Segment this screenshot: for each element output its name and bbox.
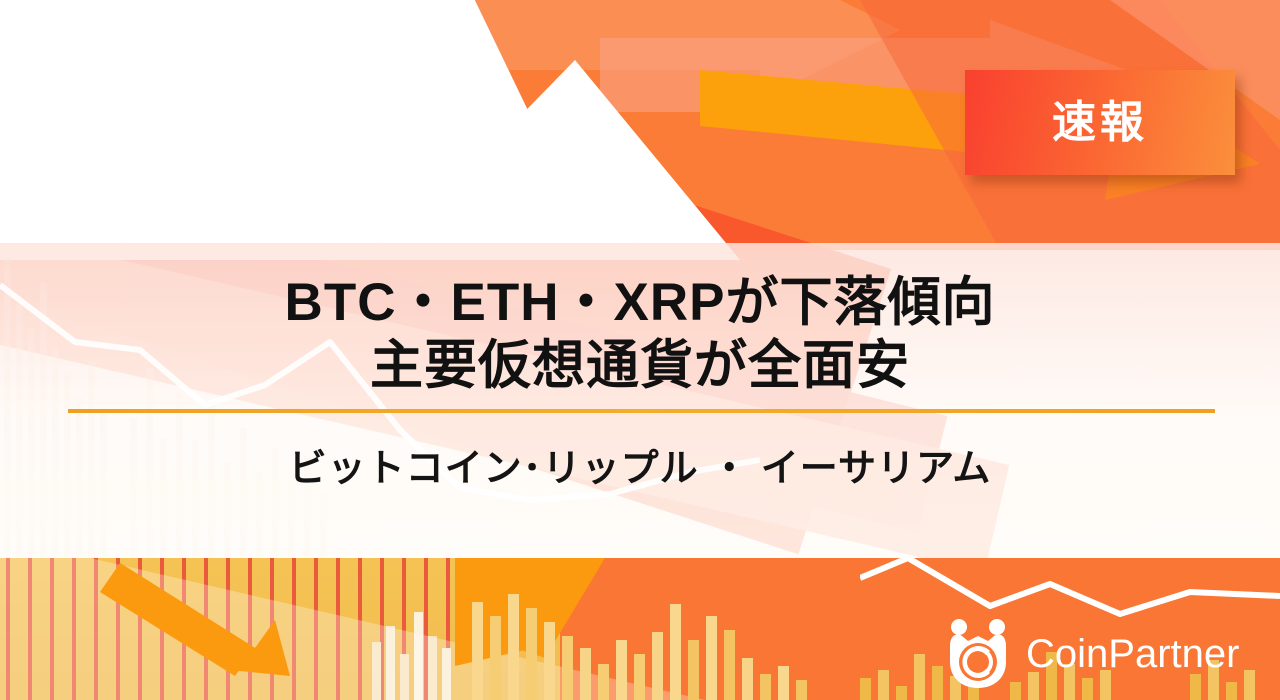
subtitle: ビットコイン･リップル ・ イーサリアム: [0, 437, 1280, 492]
headline-divider: [68, 409, 1215, 413]
headline-line-1: BTC・ETH・XRPが下落傾向: [0, 272, 1280, 335]
headline: BTC・ETH・XRPが下落傾向 主要仮想通貨が全面安: [0, 272, 1280, 397]
headline-line-2: 主要仮想通貨が全面安: [0, 335, 1280, 398]
brand-logo[interactable]: CoinPartner: [944, 618, 1239, 690]
breaking-news-badge-label: 速報: [1052, 101, 1148, 145]
brand-logo-text: CoinPartner: [1026, 632, 1239, 677]
decor-arrow-down-icon: [0, 558, 400, 700]
banner-image: 速報 BTC・ETH・XRPが下落傾向 主要仮想通貨が全面安 ビットコイン･リッ…: [0, 0, 1280, 700]
breaking-news-badge[interactable]: 速報: [965, 70, 1235, 175]
coinpartner-bear-icon: [944, 618, 1012, 690]
